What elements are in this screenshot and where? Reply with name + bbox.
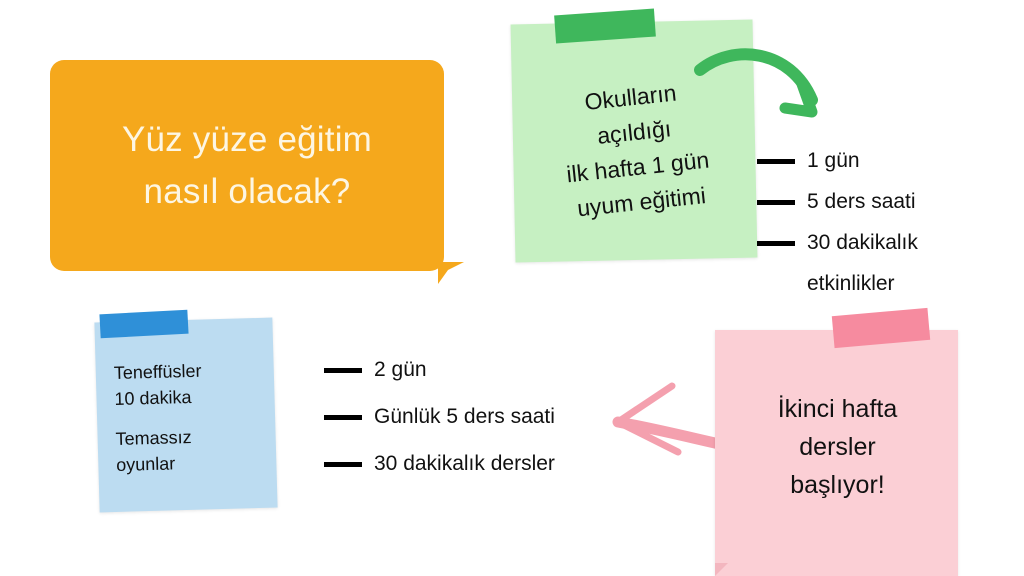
note-blue-line-4: oyunlar bbox=[116, 448, 267, 478]
list-item: Günlük 5 ders saati bbox=[324, 402, 614, 432]
sticky-note-blue: Teneffüsler 10 dakika Temassız oyunlar bbox=[97, 320, 275, 510]
list-item-label: 30 dakikalık bbox=[807, 228, 918, 258]
note-blue-line-1: Teneffüsler bbox=[113, 356, 264, 386]
dash-bullet-icon bbox=[757, 159, 795, 164]
list-item: 30 dakikalık bbox=[757, 228, 1007, 258]
title-line-1: Yüz yüze eğitim bbox=[122, 114, 372, 166]
list-item-continuation: etkinlikler bbox=[757, 269, 1007, 299]
list-item-label: 1 gün bbox=[807, 146, 860, 176]
note-blue-text: Teneffüsler 10 dakika Temassız oyunlar bbox=[113, 356, 266, 478]
dash-bullet-icon bbox=[757, 200, 795, 205]
dash-bullet-icon bbox=[324, 415, 362, 420]
list-item-label: 2 gün bbox=[374, 355, 427, 385]
note-pink-line-2: dersler bbox=[725, 428, 950, 466]
note-pink-text: İkinci hafta dersler başlıyor! bbox=[725, 390, 950, 504]
note-pink-line-1: İkinci hafta bbox=[725, 390, 950, 428]
dash-bullet-icon bbox=[324, 368, 362, 373]
list-item: 1 gün bbox=[757, 146, 1007, 176]
note-pink-corner-fold bbox=[715, 563, 728, 576]
note-blue-tape bbox=[99, 310, 188, 339]
first-week-list: 1 gün 5 ders saati 30 dakikalık etkinlik… bbox=[757, 146, 1007, 310]
dash-bullet-icon bbox=[324, 462, 362, 467]
list-item-label: 30 dakikalık dersler bbox=[374, 449, 555, 479]
list-item-label: Günlük 5 ders saati bbox=[374, 402, 555, 432]
list-item-continuation-label: etkinlikler bbox=[807, 269, 895, 299]
note-blue-line-2: 10 dakika bbox=[114, 382, 265, 412]
speech-bubble-tail bbox=[438, 262, 464, 284]
second-week-list: 2 gün Günlük 5 ders saati 30 dakikalık d… bbox=[324, 355, 614, 496]
list-item: 5 ders saati bbox=[757, 187, 1007, 217]
title-speech-bubble: Yüz yüze eğitim nasıl olacak? bbox=[50, 60, 444, 271]
infographic-canvas: Yüz yüze eğitim nasıl olacak? Okulların … bbox=[0, 0, 1024, 576]
list-item: 30 dakikalık dersler bbox=[324, 449, 614, 479]
list-item: 2 gün bbox=[324, 355, 614, 385]
note-pink-line-3: başlıyor! bbox=[725, 466, 950, 504]
sticky-note-pink: İkinci hafta dersler başlıyor! bbox=[715, 330, 958, 576]
title-line-2: nasıl olacak? bbox=[144, 166, 351, 218]
dash-bullet-icon bbox=[757, 241, 795, 246]
note-green-text: Okulların açıldığı ilk hafta 1 gün uyum … bbox=[514, 68, 757, 231]
sticky-note-green: Okulların açıldığı ilk hafta 1 gün uyum … bbox=[513, 22, 755, 260]
list-item-label: 5 ders saati bbox=[807, 187, 916, 217]
note-blue-line-3: Temassız bbox=[115, 422, 266, 452]
